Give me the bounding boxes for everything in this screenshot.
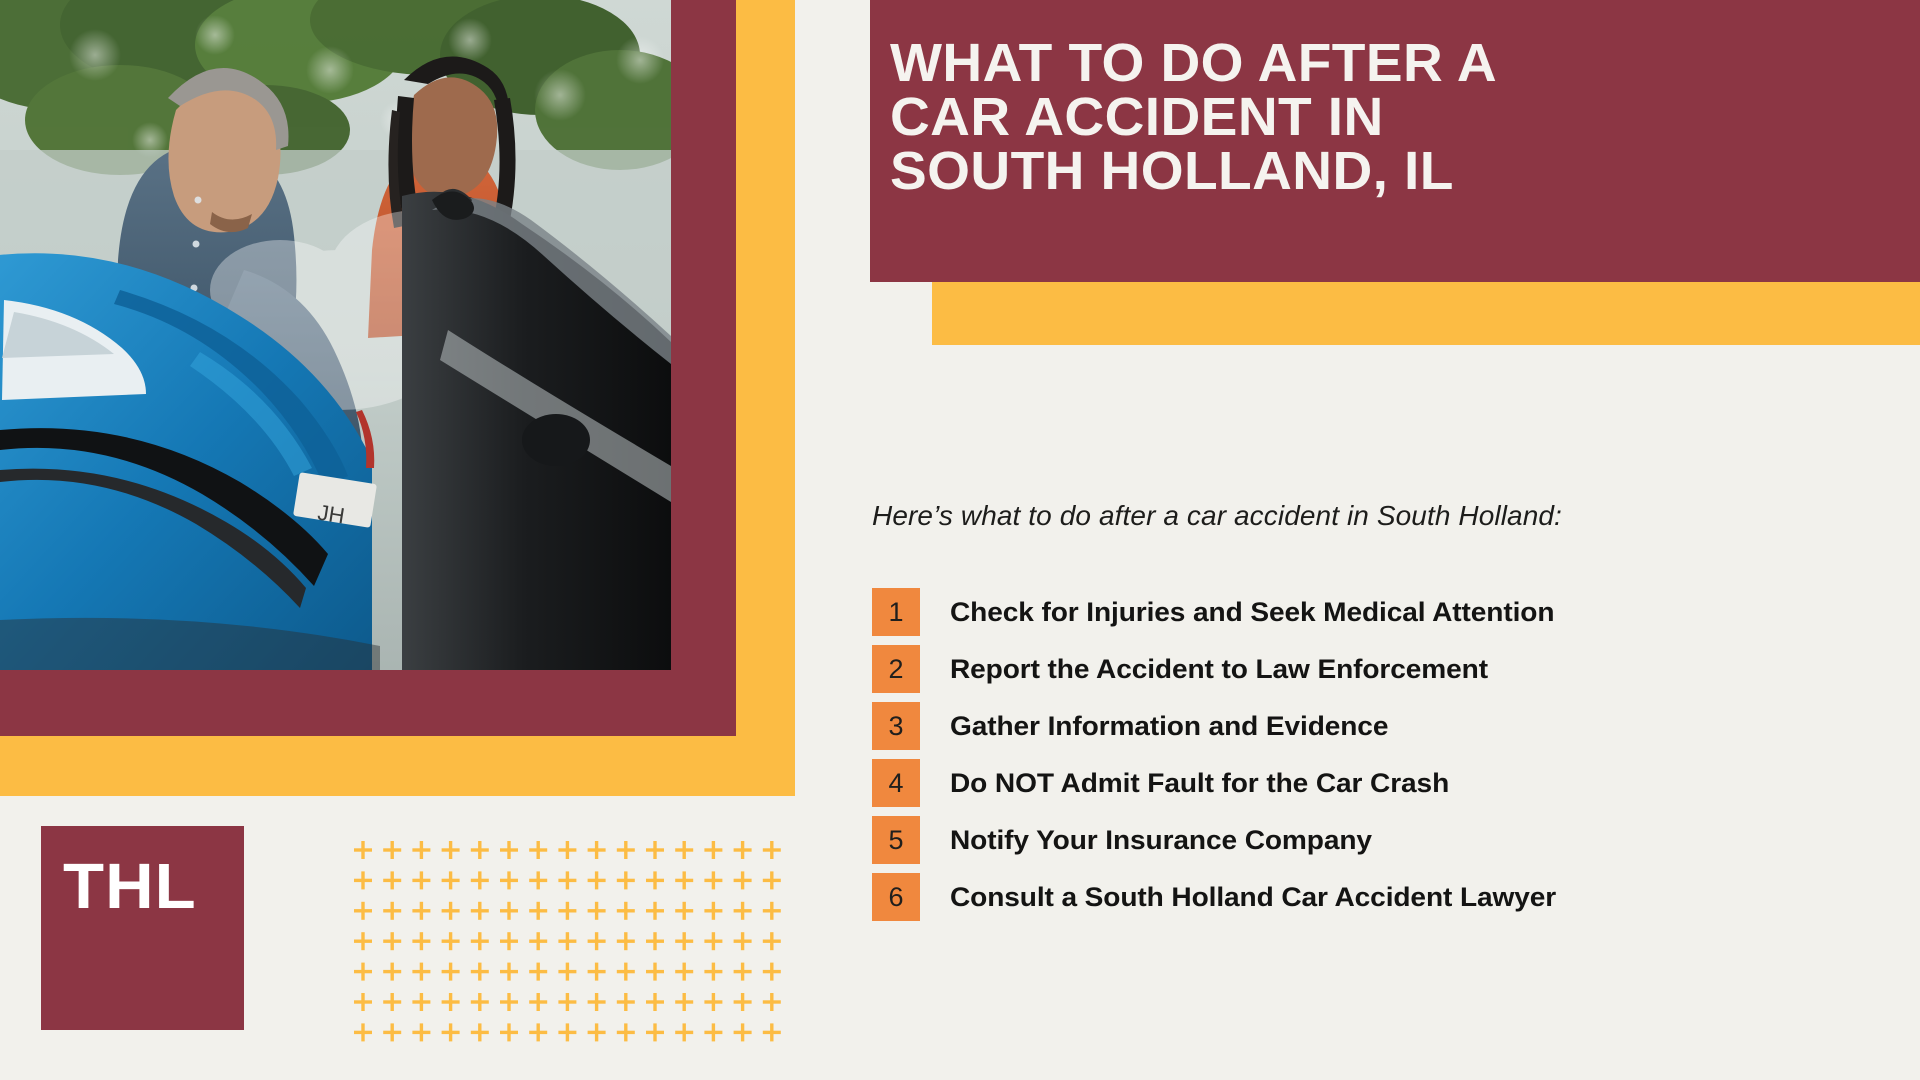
- step-label: Gather Information and Evidence: [950, 711, 1388, 742]
- steps-list: 1 Check for Injuries and Seek Medical At…: [872, 588, 1882, 930]
- title-yellow-accent-bar: [932, 282, 1920, 345]
- step-number-badge: 3: [872, 702, 920, 750]
- intro-text: Here’s what to do after a car accident i…: [872, 500, 1872, 532]
- step-label: Do NOT Admit Fault for the Car Crash: [950, 768, 1449, 799]
- list-item: 1 Check for Injuries and Seek Medical At…: [872, 588, 1882, 636]
- list-item: 4 Do NOT Admit Fault for the Car Crash: [872, 759, 1882, 807]
- list-item: 2 Report the Accident to Law Enforcement: [872, 645, 1882, 693]
- title-banner: WHAT TO DO AFTER A CAR ACCIDENT IN SOUTH…: [870, 0, 1920, 282]
- step-number-badge: 1: [872, 588, 920, 636]
- step-label: Check for Injuries and Seek Medical Atte…: [950, 597, 1554, 628]
- list-item: 5 Notify Your Insurance Company: [872, 816, 1882, 864]
- thl-logo: THL: [41, 826, 244, 1030]
- thl-logo-text: THL: [63, 854, 197, 918]
- step-label: Notify Your Insurance Company: [950, 825, 1372, 856]
- car-accident-photo: JH: [0, 0, 671, 670]
- svg-text:JH: JH: [316, 500, 346, 529]
- infographic-canvas: JH WHAT TO DO AFTER A CAR ACCIDENT IN SO…: [0, 0, 1920, 1080]
- step-label: Consult a South Holland Car Accident Law…: [950, 882, 1556, 913]
- step-number-badge: 2: [872, 645, 920, 693]
- list-item: 6 Consult a South Holland Car Accident L…: [872, 873, 1882, 921]
- step-number-badge: 6: [872, 873, 920, 921]
- step-number-badge: 4: [872, 759, 920, 807]
- car-accident-photo-illustration: JH: [0, 0, 671, 670]
- step-label: Report the Accident to Law Enforcement: [950, 654, 1488, 685]
- step-number-badge: 5: [872, 816, 920, 864]
- page-title: WHAT TO DO AFTER A CAR ACCIDENT IN SOUTH…: [890, 36, 1900, 198]
- plus-pattern-decoration: [349, 836, 809, 1056]
- list-item: 3 Gather Information and Evidence: [872, 702, 1882, 750]
